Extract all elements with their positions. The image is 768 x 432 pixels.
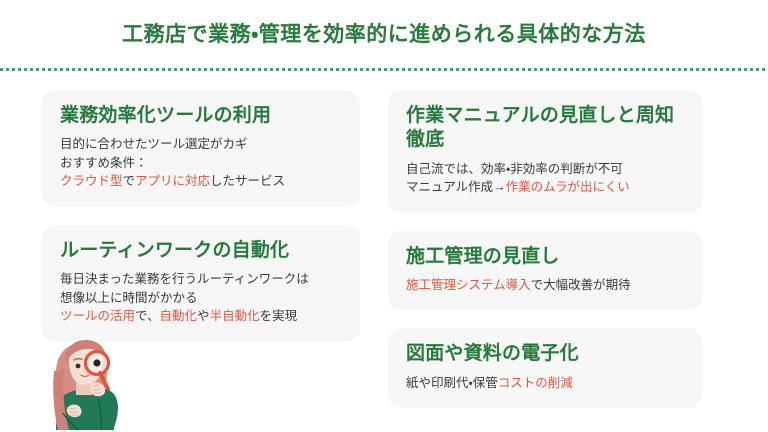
- text-segment: で大幅改善が期待: [531, 278, 631, 292]
- card-body-line: 想像以上に時間がかかる: [60, 289, 342, 308]
- card-title: 施工管理の見直し: [406, 245, 684, 269]
- text-segment: 目的に合わせたツール選定がカギ: [60, 137, 248, 151]
- card-body-line: 施工管理システム導入で大幅改善が期待: [406, 276, 684, 295]
- card-routine-work-automation: ルーティンワークの自動化 毎日決まった業務を行うルーティンワークは 想像以上に時…: [42, 225, 360, 342]
- card-body: 目的に合わせたツール選定がカギ おすすめ条件： クラウド型でアプリに対応したサー…: [60, 135, 342, 191]
- card-body-line: ツールの活用で、自動化や半自動化を実現: [60, 307, 342, 326]
- card-construction-management-review: 施工管理の見直し 施工管理システム導入で大幅改善が期待: [388, 231, 702, 311]
- text-segment: を実現: [260, 309, 298, 323]
- text-segment: したサービス: [210, 174, 285, 188]
- text-segment-highlight: 自動化: [160, 309, 198, 323]
- card-title: ルーティンワークの自動化: [60, 239, 342, 263]
- text-segment-highlight: 施工管理システム導入: [406, 278, 531, 292]
- text-segment: や: [197, 309, 210, 323]
- left-column: 業務効率化ツールの利用 目的に合わせたツール選定がカギ おすすめ条件： クラウド…: [42, 90, 360, 360]
- card-work-manual-review: 作業マニュアルの見直しと周知徹底 自己流では、効率・非効率の判断が不可 マニュア…: [388, 90, 702, 213]
- card-body-line: 紙や印刷代・保管コストの削減: [406, 374, 684, 393]
- text-segment-highlight: クラウド型: [60, 174, 123, 188]
- card-body: 紙や印刷代・保管コストの削減: [406, 374, 684, 393]
- magnified-eye: [93, 359, 100, 366]
- card-body-line: マニュアル作成→作業のムラが出にくい: [406, 178, 684, 197]
- text-segment: で: [123, 174, 136, 188]
- card-body: 毎日決まった業務を行うルーティンワークは 想像以上に時間がかかる ツールの活用で…: [60, 270, 342, 326]
- text-segment-highlight: ツールの活用: [60, 309, 135, 323]
- card-body-line: 自己流では、効率・非効率の判断が不可: [406, 160, 684, 179]
- text-segment-highlight: コストの削減: [498, 376, 573, 390]
- card-body: 自己流では、効率・非効率の判断が不可 マニュアル作成→作業のムラが出にくい: [406, 160, 684, 197]
- text-segment: 想像以上に時間がかかる: [60, 291, 198, 305]
- card-body-line: クラウド型でアプリに対応したサービス: [60, 172, 342, 191]
- card-title: 図面や資料の電子化: [406, 342, 684, 366]
- card-body-line: おすすめ条件：: [60, 154, 342, 173]
- card-body-line: 目的に合わせたツール選定がカギ: [60, 135, 342, 154]
- right-column: 作業マニュアルの見直しと周知徹底 自己流では、効率・非効率の判断が不可 マニュア…: [388, 90, 702, 426]
- card-title: 業務効率化ツールの利用: [60, 104, 342, 128]
- text-segment: おすすめ条件：: [60, 156, 148, 170]
- card-business-efficiency-tools: 業務効率化ツールの利用 目的に合わせたツール選定がカギ おすすめ条件： クラウド…: [42, 90, 360, 207]
- text-segment: 紙や印刷代・保管: [406, 376, 498, 390]
- text-segment-highlight: アプリに対応: [135, 174, 210, 188]
- text-segment: 自己流では、効率・非効率の判断が不可: [406, 162, 623, 176]
- woman-with-magnifying-glass-illustration: [38, 337, 158, 432]
- text-segment-highlight: 半自動化: [210, 309, 260, 323]
- card-title: 作業マニュアルの見直しと周知徹底: [406, 104, 684, 153]
- dotted-divider: [0, 68, 768, 71]
- slide-header: 工務店で業務・管理を効率的に進められる具体的な方法: [0, 0, 768, 68]
- card-body-line: 毎日決まった業務を行うルーティンワークは: [60, 270, 342, 289]
- eye: [76, 364, 81, 369]
- slide-root: 工務店で業務・管理を効率的に進められる具体的な方法 業務効率化ツールの利用 目的…: [0, 0, 768, 432]
- text-segment: 毎日決まった業務を行うルーティンワークは: [60, 272, 309, 286]
- text-segment: で、: [135, 309, 160, 323]
- card-digitize-drawings-documents: 図面や資料の電子化 紙や印刷代・保管コストの削減: [388, 328, 702, 408]
- text-segment-highlight: 作業のムラが出にくい: [506, 180, 630, 194]
- text-segment: マニュアル作成→: [406, 180, 506, 194]
- page-title: 工務店で業務・管理を効率的に進められる具体的な方法: [122, 24, 646, 45]
- card-body: 施工管理システム導入で大幅改善が期待: [406, 276, 684, 295]
